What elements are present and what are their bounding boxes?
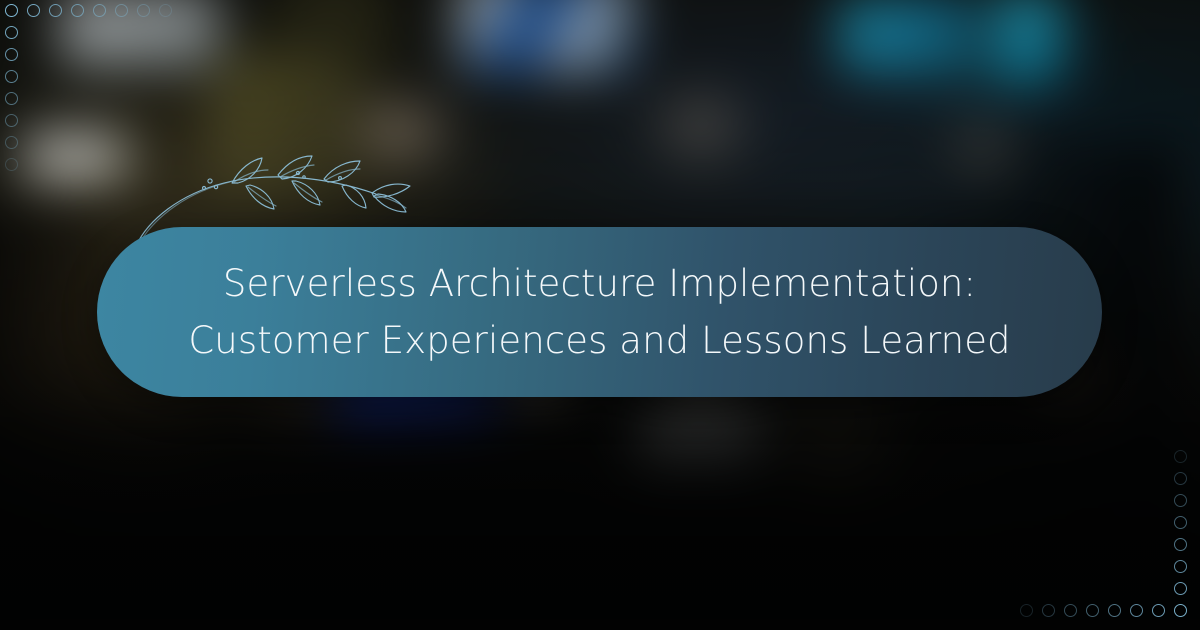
background-bottom-shadow <box>0 410 1200 630</box>
background-warm-highlight-1 <box>340 90 460 170</box>
page-title-line-2: Customer Experiences and Lessons Learned <box>150 312 1050 369</box>
background-cyan-monitor-left <box>840 0 970 70</box>
background-center-projection-screen <box>460 0 630 70</box>
background-left-lower-panel <box>26 130 126 182</box>
background-olive-panel-upper <box>270 0 390 90</box>
title-pill: Serverless Architecture Implementation: … <box>97 227 1102 397</box>
page-title: Serverless Architecture Implementation: … <box>150 255 1050 369</box>
background-left-monitor <box>60 0 220 66</box>
background-cyan-monitor-right <box>998 0 1060 84</box>
social-card: Serverless Architecture Implementation: … <box>0 0 1200 630</box>
page-title-line-1: Serverless Architecture Implementation: <box>150 255 1050 312</box>
background-warm-highlight-2 <box>640 80 760 170</box>
